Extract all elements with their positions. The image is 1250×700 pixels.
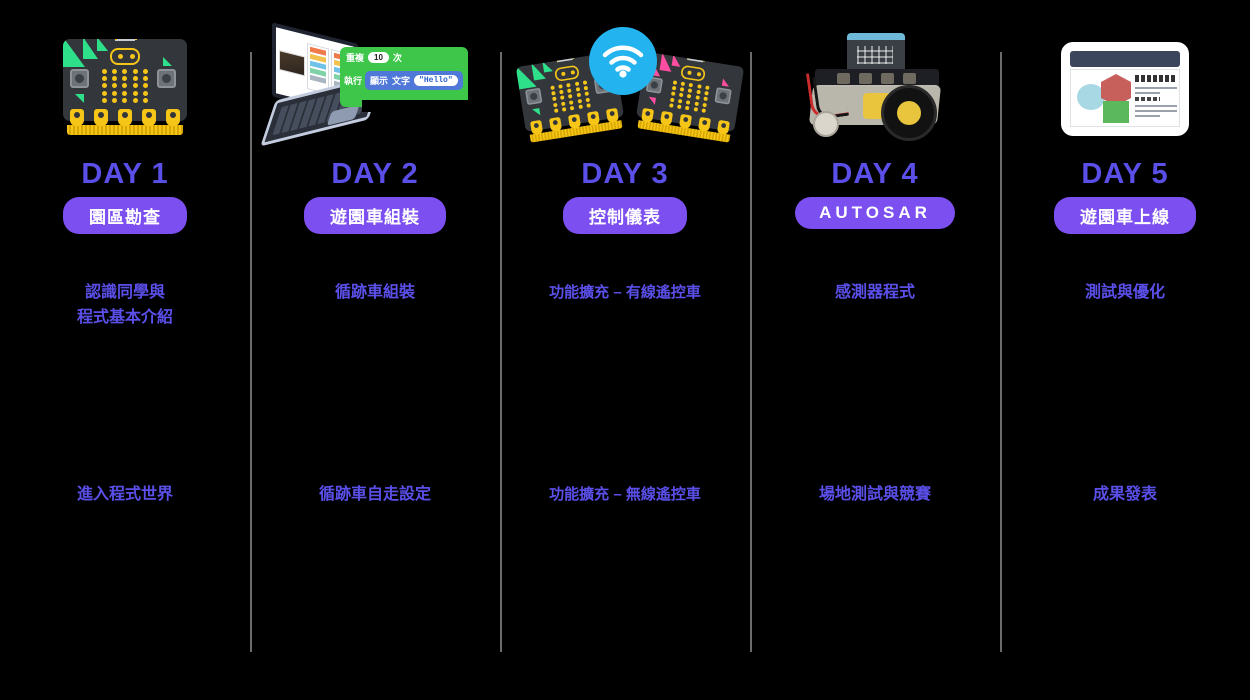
repeat-count: 10 bbox=[368, 52, 389, 63]
day-task-1-2: 進入程式世界 bbox=[0, 483, 250, 508]
day-badge-3[interactable]: 控制儀表 bbox=[563, 197, 687, 234]
robot-car-icon bbox=[750, 26, 1000, 152]
day-columns: DAY 1 園區勘查 認識同學與 程式基本介紹 進入程式世界 bbox=[0, 0, 1250, 700]
day-badge-5[interactable]: 遊園車上線 bbox=[1054, 197, 1196, 234]
day-task-5-1: 測試與優化 bbox=[1000, 281, 1250, 306]
laptop-code-blocks-icon: 重複 10 次 執行 顯示 文字 "Hello" bbox=[250, 26, 500, 152]
day-task-4-2: 場地測試與競賽 bbox=[750, 483, 1000, 508]
day-badge-wrap-4: AUTOSAR bbox=[750, 197, 1000, 229]
day-title-2: DAY 2 bbox=[250, 158, 500, 191]
day-column-4: DAY 4 AUTOSAR 感測器程式 場地測試與競賽 bbox=[750, 0, 1000, 700]
day-column-3: DAY 3 控制儀表 功能擴充 – 有線遙控車 功能擴充 – 無線遙控車 bbox=[500, 0, 750, 700]
code-block-group: 重複 10 次 執行 顯示 文字 "Hello" bbox=[340, 47, 486, 111]
presentation-slide-icon bbox=[1000, 26, 1250, 152]
day-task-5-2: 成果發表 bbox=[1000, 483, 1250, 508]
day-title-1: DAY 1 bbox=[0, 158, 250, 191]
repeat-label: 重複 bbox=[346, 51, 364, 64]
day-task-2-1: 循跡車組裝 bbox=[250, 281, 500, 306]
day-task-1-1: 認識同學與 程式基本介紹 bbox=[0, 281, 250, 331]
day-task-2-2: 循跡車自走設定 bbox=[250, 483, 500, 508]
show-text-block: 顯示 文字 "Hello" bbox=[365, 71, 463, 90]
day-task-3-1: 功能擴充 – 有線遙控車 bbox=[500, 281, 750, 304]
show-label: 顯示 bbox=[370, 74, 388, 87]
day-badge-wrap-1: 園區勘查 bbox=[0, 197, 250, 234]
day-badge-wrap-2: 遊園車組裝 bbox=[250, 197, 500, 234]
course-schedule-board: DAY 1 園區勘查 認識同學與 程式基本介紹 進入程式世界 bbox=[0, 0, 1250, 700]
day-title-5: DAY 5 bbox=[1000, 158, 1250, 191]
day-column-1: DAY 1 園區勘查 認識同學與 程式基本介紹 進入程式世界 bbox=[0, 0, 250, 700]
day-task-4-1: 感測器程式 bbox=[750, 281, 1000, 306]
day-task-1-1-line2: 程式基本介紹 bbox=[0, 306, 250, 331]
day-badge-2[interactable]: 遊園車組裝 bbox=[304, 197, 446, 234]
day-badge-wrap-3: 控制儀表 bbox=[500, 197, 750, 234]
day-title-3: DAY 3 bbox=[500, 158, 750, 191]
day-column-5: DAY 5 遊園車上線 測試與優化 成果發表 bbox=[1000, 0, 1250, 700]
string-value: "Hello" bbox=[414, 75, 458, 86]
times-label: 次 bbox=[393, 51, 402, 64]
day-badge-1[interactable]: 園區勘查 bbox=[63, 197, 187, 234]
day-badge-4[interactable]: AUTOSAR bbox=[795, 197, 955, 229]
text-label: 文字 bbox=[392, 74, 410, 87]
do-label: 執行 bbox=[344, 74, 362, 87]
day-title-4: DAY 4 bbox=[750, 158, 1000, 191]
day-column-2: 重複 10 次 執行 顯示 文字 "Hello" bbox=[250, 0, 500, 700]
two-microbits-wifi-icon bbox=[500, 26, 750, 152]
wifi-icon bbox=[589, 27, 657, 95]
day-badge-wrap-5: 遊園車上線 bbox=[1000, 197, 1250, 234]
microbit-board-icon bbox=[0, 26, 250, 152]
day-task-3-2: 功能擴充 – 無線遙控車 bbox=[500, 483, 750, 506]
day-task-1-1-line1: 認識同學與 bbox=[0, 281, 250, 306]
